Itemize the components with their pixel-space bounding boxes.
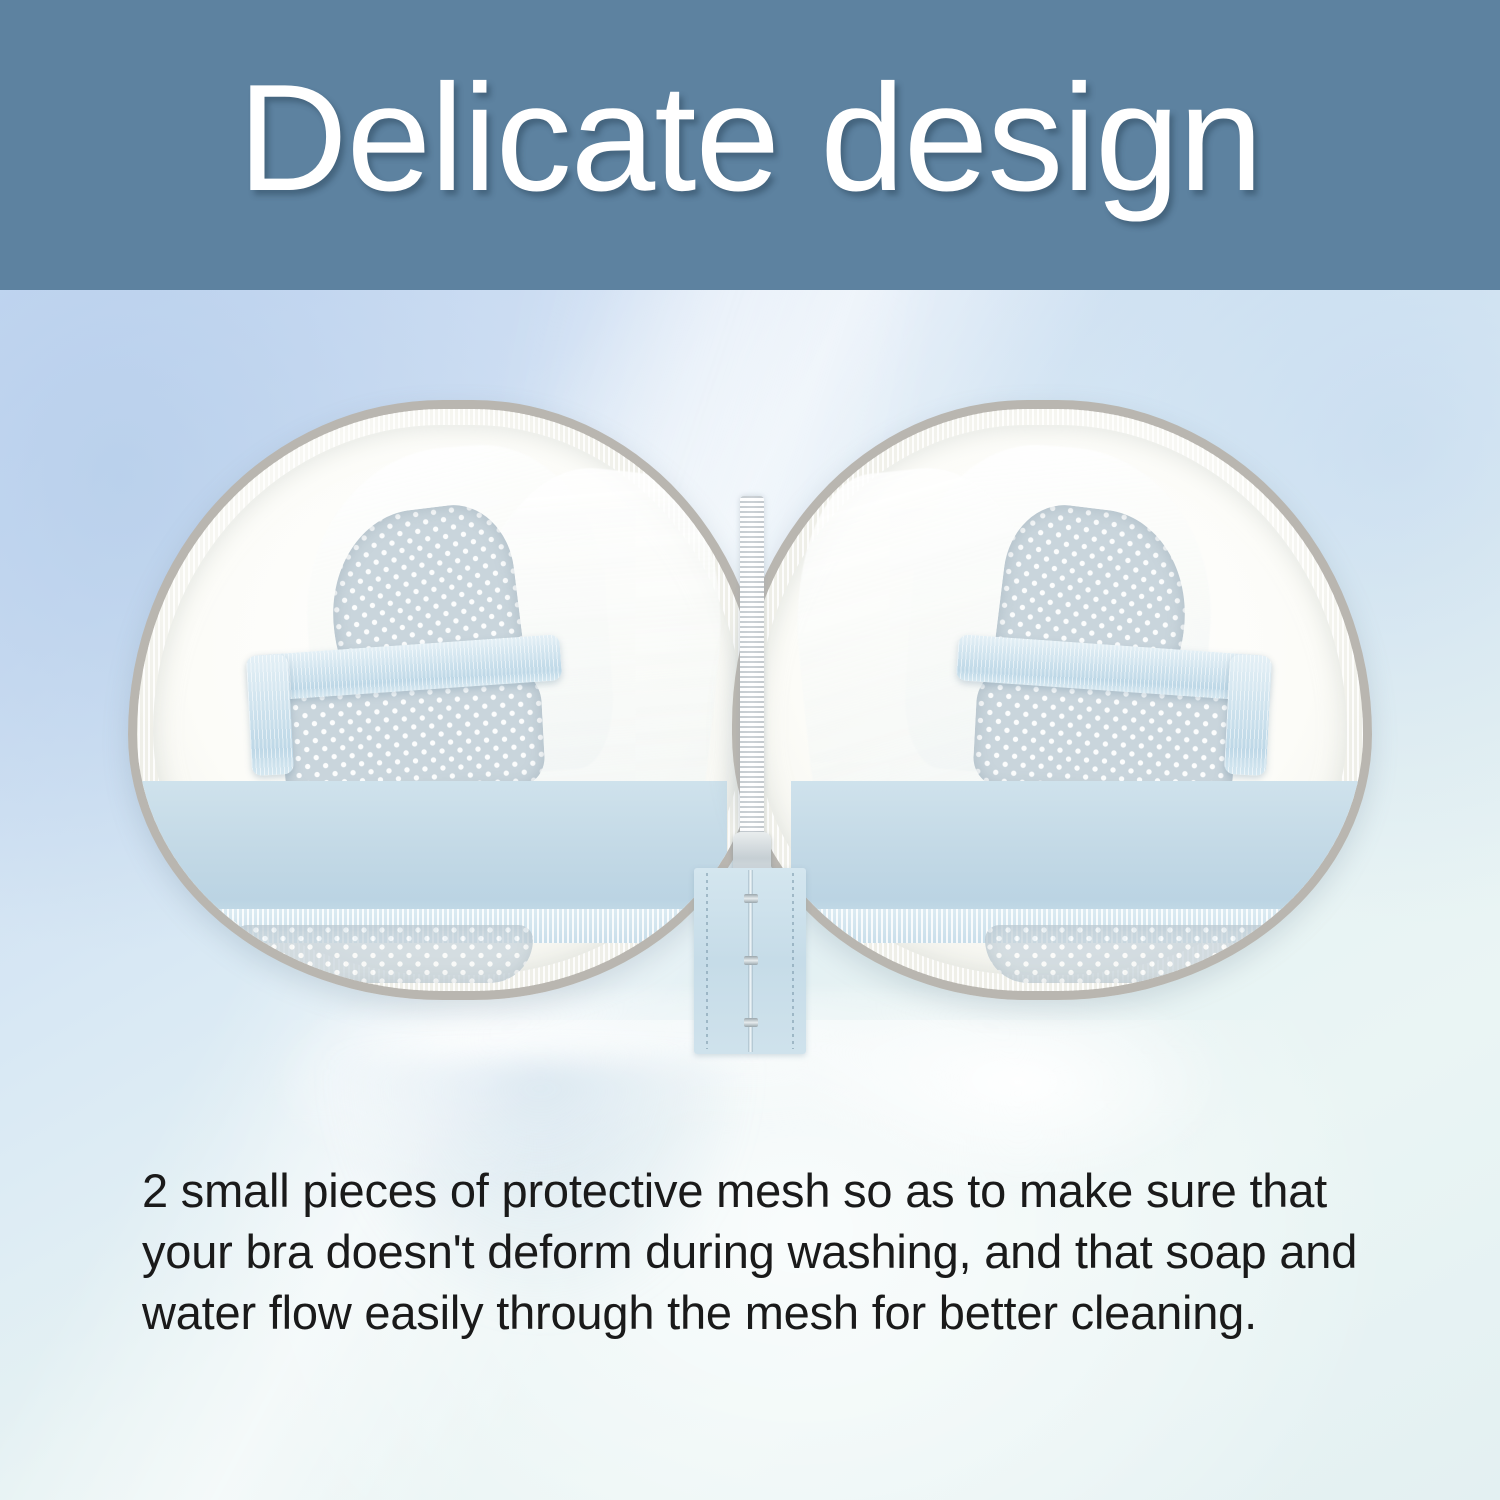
- feature-description: 2 small pieces of protective mesh so as …: [142, 1160, 1412, 1343]
- closure-stitch-left: [706, 873, 708, 1049]
- page-title: Delicate design: [0, 0, 1500, 290]
- mesh-strip-bottom-right: [985, 925, 1285, 983]
- hanging-tab-left: [203, 921, 237, 983]
- product-feature-image: Delicate design: [0, 0, 1500, 1500]
- hook-row-3: [744, 1018, 758, 1027]
- center-zipper: [740, 496, 764, 856]
- wash-bag-left-cup: [128, 400, 768, 1000]
- elastic-strap-right-vertical: [1224, 654, 1272, 776]
- product-image: [128, 400, 1372, 1000]
- hook-row-2: [744, 956, 758, 965]
- mesh-strip-bottom-left: [233, 925, 533, 983]
- bottom-band-left: [128, 781, 727, 929]
- hook-row-1: [744, 894, 758, 903]
- bottom-band-right: [791, 781, 1372, 929]
- header-banner: Delicate design: [0, 0, 1500, 290]
- elastic-strap-left-vertical: [246, 654, 294, 776]
- closure-stitch-right: [792, 873, 794, 1049]
- hanging-tab-right: [1281, 921, 1315, 983]
- wash-bag-right-cup: [732, 400, 1372, 1000]
- hook-and-eye-closure: [694, 868, 806, 1054]
